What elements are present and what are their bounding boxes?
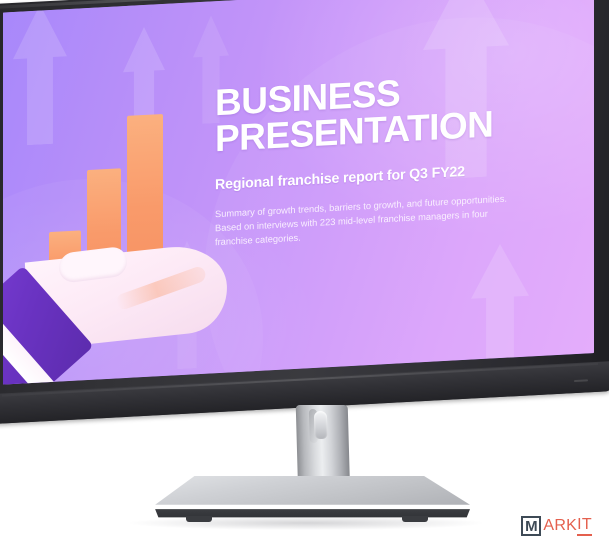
dell-monitor: BUSINESS PRESENTATION Regional franchise… xyxy=(0,0,609,424)
monitor-screen[interactable]: BUSINESS PRESENTATION Regional franchise… xyxy=(3,0,594,385)
watermark-mid-text: ARK xyxy=(543,518,577,534)
slide-text-block: BUSINESS PRESENTATION Regional franchise… xyxy=(215,67,555,250)
watermark-underlined-text: IT xyxy=(577,517,592,536)
power-indicator-icon[interactable] xyxy=(574,379,588,382)
slide-title: BUSINESS PRESENTATION xyxy=(215,67,555,156)
watermark-boxed-letter: M xyxy=(521,516,541,536)
slide-subtitle: Regional franchise report for Q3 FY22 xyxy=(215,159,555,193)
contact-shadow xyxy=(130,516,482,530)
cable-management-slot xyxy=(314,411,328,439)
markit-watermark: M ARK IT xyxy=(521,516,592,536)
hand-chart-illustration xyxy=(3,120,233,384)
product-photo-stage: BUSINESS PRESENTATION Regional franchise… xyxy=(0,0,609,550)
